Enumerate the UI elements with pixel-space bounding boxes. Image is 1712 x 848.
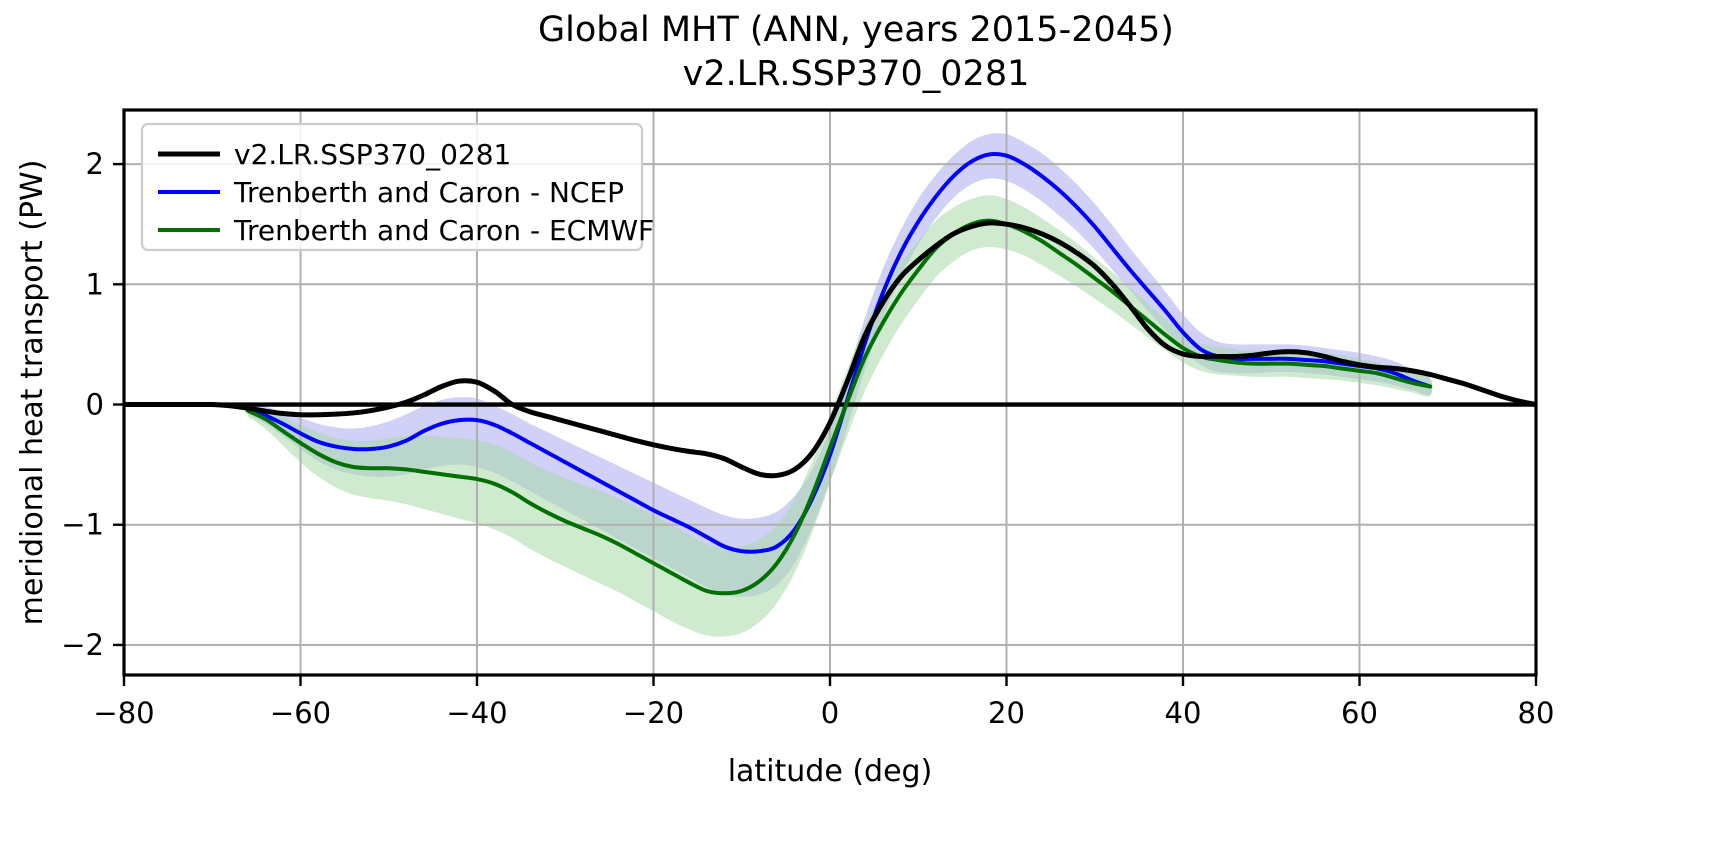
- y-tick-label: −2: [61, 628, 104, 662]
- mht-figure: Global MHT (ANN, years 2015-2045) v2.LR.…: [0, 0, 1712, 848]
- chart-legend: v2.LR.SSP370_0281Trenberth and Caron - N…: [142, 124, 654, 250]
- legend-label-2: Trenberth and Caron - ECMWF: [233, 214, 654, 247]
- legend-label-1: Trenberth and Caron - NCEP: [233, 176, 624, 209]
- chart-plot-area: −80−60−40−20020406080 −2−1012 v2.LR.SSP3…: [0, 0, 1712, 848]
- y-tick-labels: −2−1012: [61, 147, 104, 662]
- x-tick-label: 60: [1341, 696, 1378, 730]
- x-tick-labels: −80−60−40−20020406080: [93, 696, 1554, 730]
- legend-label-0: v2.LR.SSP370_0281: [234, 138, 511, 171]
- y-tick-label: 2: [86, 147, 104, 181]
- y-axis-label: meridional heat transport (PW): [15, 160, 50, 626]
- x-tick-label: −80: [93, 696, 154, 730]
- y-tick-label: 1: [86, 267, 104, 301]
- x-tick-label: 80: [1518, 696, 1555, 730]
- x-tick-label: −40: [446, 696, 507, 730]
- x-tick-label: −60: [270, 696, 331, 730]
- y-tick-label: −1: [61, 508, 104, 542]
- x-tick-label: 20: [988, 696, 1025, 730]
- y-tick-label: 0: [86, 388, 104, 422]
- x-tick-label: −20: [623, 696, 684, 730]
- x-axis-label: latitude (deg): [728, 754, 933, 789]
- x-tick-label: 40: [1165, 696, 1202, 730]
- x-tick-label: 0: [821, 696, 839, 730]
